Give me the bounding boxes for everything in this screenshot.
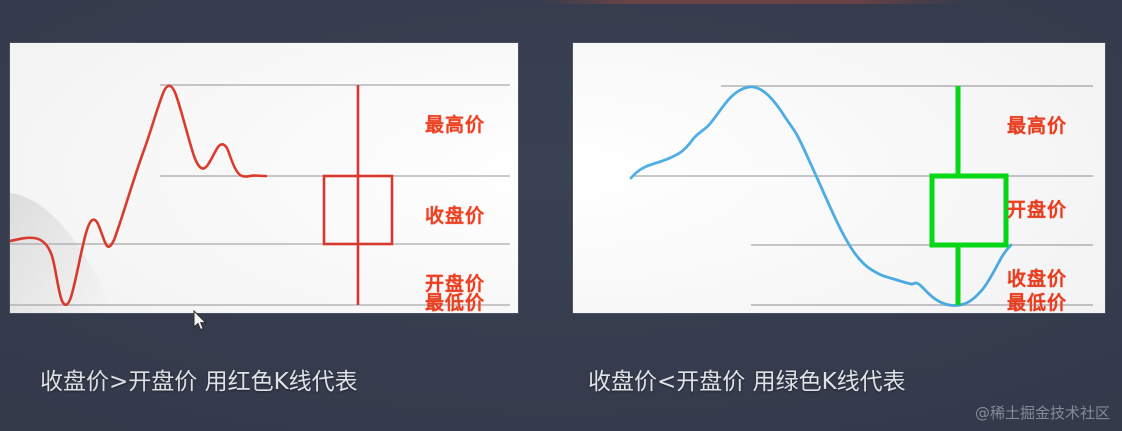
- right-label-open-price: 开盘价: [1007, 201, 1067, 220]
- left-label-close-price: 收盘价: [425, 207, 485, 226]
- screenshot-stage: 最高价 收盘价 开盘价 最低价 最高价 开盘价 收盘价 最低价 收盘价>开盘价 …: [0, 0, 1122, 431]
- video-progress-strip[interactable]: [0, 0, 1122, 4]
- left-label-lowest-price: 最低价: [425, 294, 485, 313]
- right-diagram-panel: 最高价 开盘价 收盘价 最低价: [573, 43, 1105, 313]
- watermark: @稀土掘金技术社区: [975, 402, 1110, 423]
- left-diagram-panel: 最高价 收盘价 开盘价 最低价: [10, 43, 518, 313]
- mouse-cursor-icon: [192, 310, 208, 332]
- left-label-highest-price: 最高价: [425, 116, 485, 135]
- right-label-close-price: 收盘价: [1007, 270, 1067, 289]
- right-caption: 收盘价<开盘价 用绿色K线代表: [588, 362, 906, 396]
- left-caption: 收盘价>开盘价 用红色K线代表: [40, 362, 358, 396]
- right-label-highest-price: 最高价: [1007, 117, 1067, 136]
- candle-body-green: [932, 176, 1006, 245]
- right-label-lowest-price: 最低价: [1007, 294, 1067, 313]
